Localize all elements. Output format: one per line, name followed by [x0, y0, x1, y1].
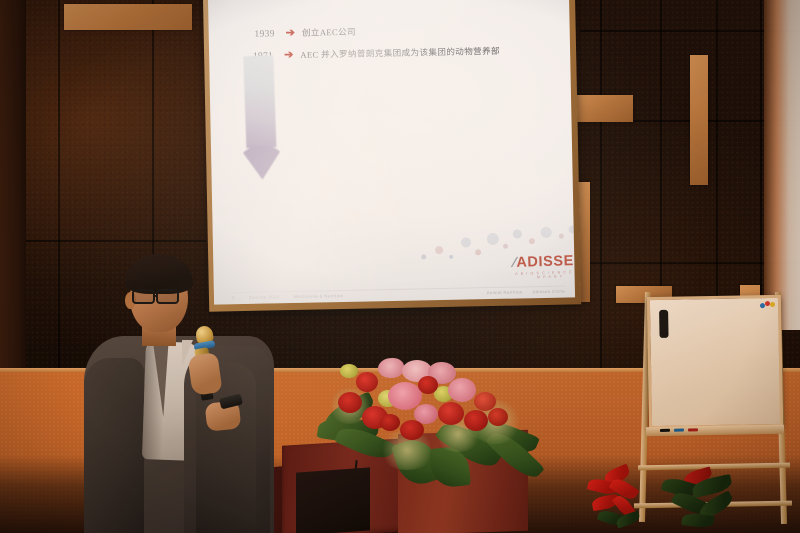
flower-arrangement — [318, 358, 558, 488]
poinsettia-plant — [662, 470, 750, 533]
magnet-icon — [770, 302, 775, 307]
slide-footer-center: Methionine & Nutrition — [294, 293, 344, 299]
glasses-icon — [156, 289, 179, 304]
poinsettia-plant — [586, 466, 656, 533]
screenshot-scene: 1939 ➔ 创立AEC公司 1971 ➔ AEC 并入罗纳普朗克集团成为该集团… — [0, 0, 800, 533]
wall-seam — [58, 0, 60, 372]
slide-timeline-row: 1971 ➔ AEC 并入罗纳普朗克集团成为该集团的动物营养部 — [243, 45, 500, 62]
glasses-icon — [132, 289, 155, 304]
slide-timeline-row: 1939 ➔ 创立AEC公司 — [245, 26, 356, 40]
timeline-text: AEC 并入罗纳普朗克集团成为该集团的动物营养部 — [300, 45, 500, 61]
wall-accent-panel — [690, 55, 708, 185]
adisseo-wordmark: ⁄ADISSEO — [513, 253, 575, 271]
arrow-right-icon: ➔ — [284, 50, 293, 61]
presenter-hand — [187, 352, 222, 396]
marker-icon[interactable] — [674, 429, 684, 432]
logo-text: DISSEO — [527, 253, 575, 271]
glasses-bridge — [154, 295, 158, 297]
wall-pillar-right — [764, 0, 800, 330]
marker-holder — [659, 310, 668, 338]
whiteboard-marker-tray — [646, 425, 784, 436]
blazer-lapel — [133, 339, 168, 417]
adisseo-tagline: A B I O S C I E N C E C O M P A N Y — [514, 270, 575, 280]
wall-pillar-left — [0, 0, 26, 372]
logo-letter-a: A — [516, 255, 528, 271]
adisseo-logo: ⁄ADISSEO A B I O S C I E N C E C O M P A… — [513, 253, 575, 280]
magnet-icon — [760, 303, 765, 308]
wall-seam — [600, 0, 602, 372]
whiteboard-surface[interactable] — [647, 295, 783, 429]
marker-icon[interactable] — [688, 428, 698, 431]
timeline-text: 创立AEC公司 — [302, 26, 356, 39]
down-arrow-icon — [235, 55, 285, 181]
timeline-year: 1939 — [245, 29, 275, 40]
arrow-right-icon: ➔ — [286, 28, 295, 39]
slide-footer-right-b: Adisseo China — [533, 289, 565, 295]
wall-seam — [0, 240, 206, 242]
hair — [125, 254, 193, 294]
wall-accent-panel — [64, 4, 192, 30]
presenter — [84, 250, 284, 533]
slide-footer-right-a: Animal Nutrition — [487, 289, 523, 295]
marker-icon[interactable] — [660, 429, 670, 432]
